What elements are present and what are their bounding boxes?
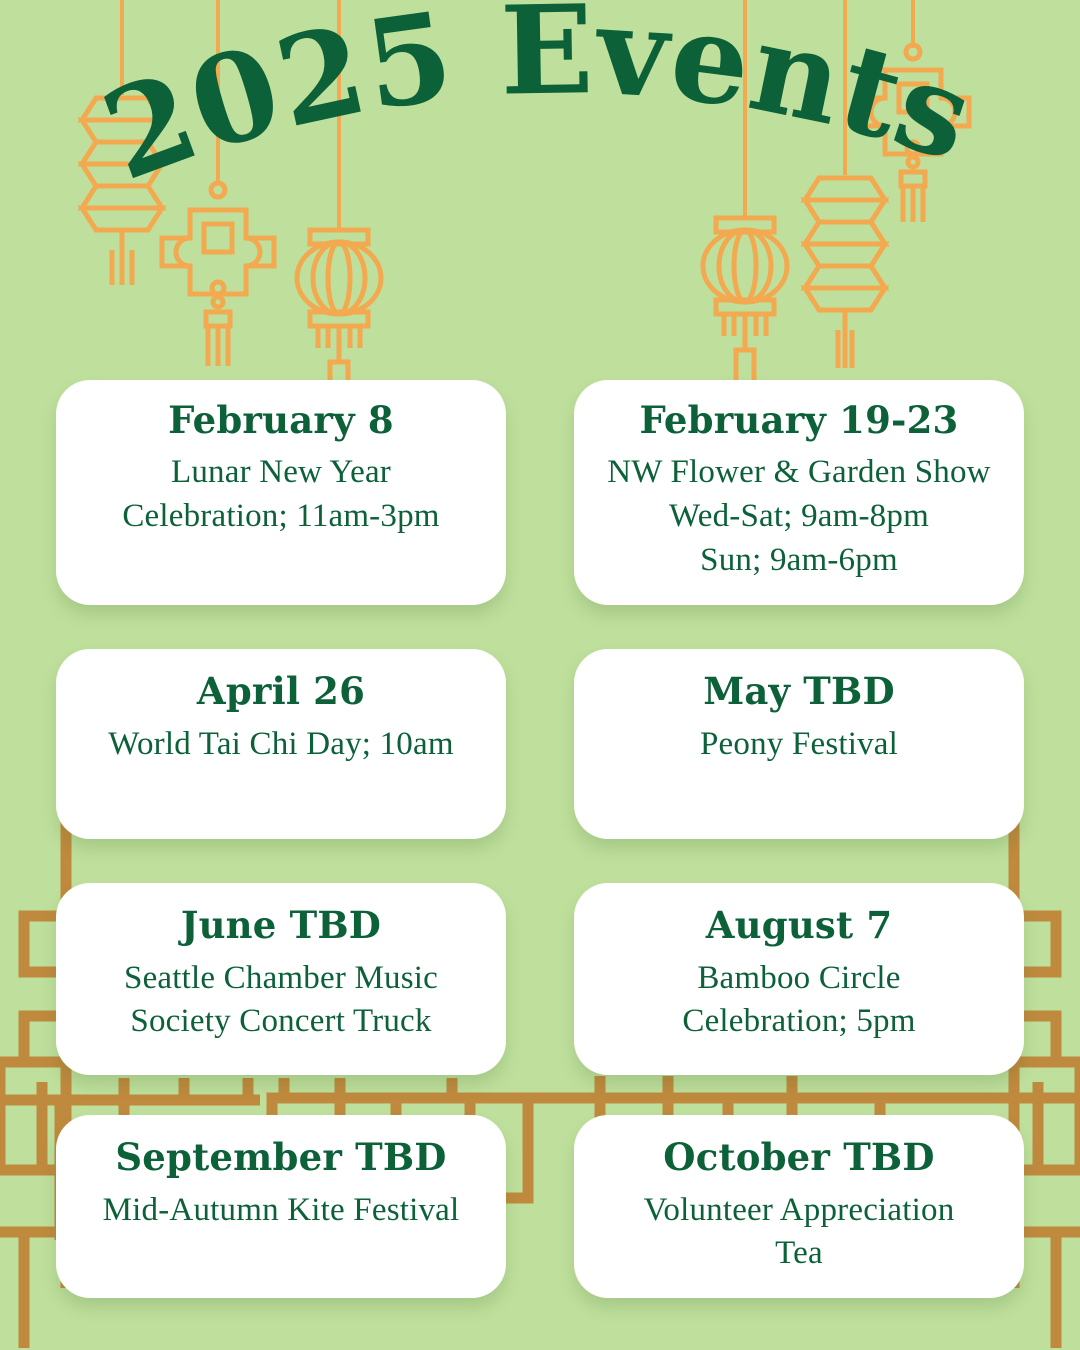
poster-canvas: 2025 Events February 8 Lunar New YearCel… — [0, 0, 1080, 1350]
event-date: February 8 — [78, 400, 484, 441]
event-card[interactable]: April 26 World Tai Chi Day; 10am — [56, 649, 506, 839]
event-description: Bamboo CircleCelebration; 5pm — [596, 957, 1002, 1045]
ribbed-lantern-icon — [82, 98, 162, 285]
event-description: Volunteer AppreciationTea — [596, 1189, 1002, 1277]
event-card[interactable]: February 19-23 NW Flower & Garden ShowWe… — [574, 380, 1024, 605]
event-date: May TBD — [596, 671, 1002, 712]
event-description: Lunar New YearCelebration; 11am-3pm — [78, 451, 484, 539]
title-text: 2025 Events — [86, 0, 990, 208]
ribbed-lantern-icon — [805, 178, 885, 368]
event-date: October TBD — [596, 1137, 1002, 1178]
event-card[interactable]: June TBD Seattle Chamber MusicSociety Co… — [56, 883, 506, 1075]
round-lantern-icon — [703, 218, 787, 386]
event-card[interactable]: October TBD Volunteer AppreciationTea — [574, 1115, 1024, 1298]
event-card[interactable]: September TBD Mid-Autumn Kite Festival — [56, 1115, 506, 1298]
event-card[interactable]: August 7 Bamboo CircleCelebration; 5pm — [574, 883, 1024, 1075]
event-description: Peony Festival — [596, 723, 1002, 767]
lantern-decorations — [0, 0, 1080, 400]
poster-title: 2025 Events — [0, 18, 1080, 208]
event-date: September TBD — [78, 1137, 484, 1178]
events-grid: February 8 Lunar New YearCelebration; 11… — [56, 380, 1024, 1298]
event-card[interactable]: February 8 Lunar New YearCelebration; 11… — [56, 380, 506, 605]
event-description: NW Flower & Garden ShowWed-Sat; 9am-8pmS… — [596, 451, 1002, 583]
chinese-knot-icon — [162, 183, 274, 366]
event-card[interactable]: May TBD Peony Festival — [574, 649, 1024, 839]
event-date: April 26 — [78, 671, 484, 712]
event-description: Mid-Autumn Kite Festival — [78, 1189, 484, 1233]
event-description: Seattle Chamber MusicSociety Concert Tru… — [78, 957, 484, 1045]
event-date: August 7 — [596, 905, 1002, 946]
round-lantern-icon — [297, 230, 381, 398]
chinese-knot-icon — [857, 45, 969, 222]
event-date: June TBD — [78, 905, 484, 946]
event-description: World Tai Chi Day; 10am — [78, 723, 484, 767]
event-date: February 19-23 — [596, 400, 1002, 441]
